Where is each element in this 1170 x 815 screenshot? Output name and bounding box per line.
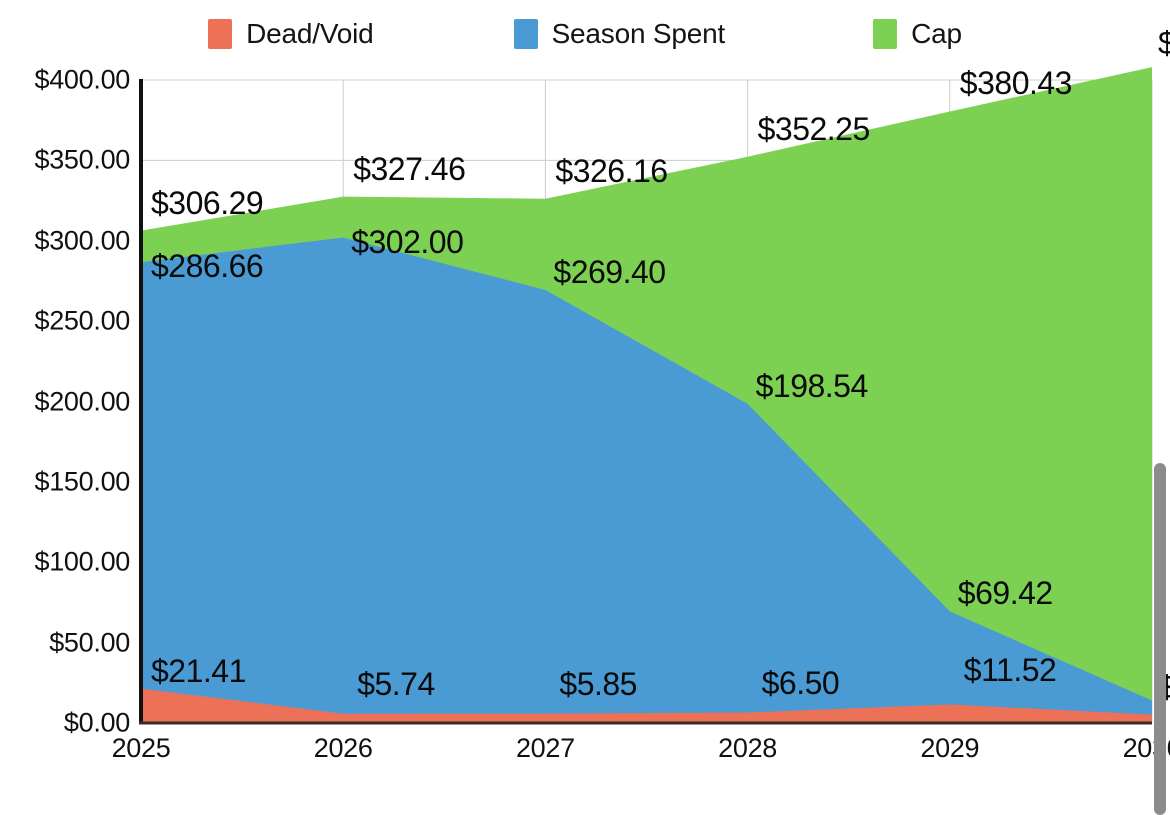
x-tick-label: 2029 — [920, 733, 979, 764]
x-tick-label: 2025 — [112, 733, 171, 764]
x-tick-label: 2027 — [516, 733, 575, 764]
area-chart: Dead/Void Season Spent Cap $400.00$350.0… — [0, 0, 1170, 815]
vertical-scrollbar[interactable] — [1154, 463, 1166, 815]
vertical-scrollbar-thumb[interactable] — [1154, 463, 1166, 815]
x-tick-label: 2028 — [718, 733, 777, 764]
x-tick-label: 2026 — [314, 733, 373, 764]
x-axis-tick-labels: 202520262027202820292030 — [0, 0, 1170, 815]
